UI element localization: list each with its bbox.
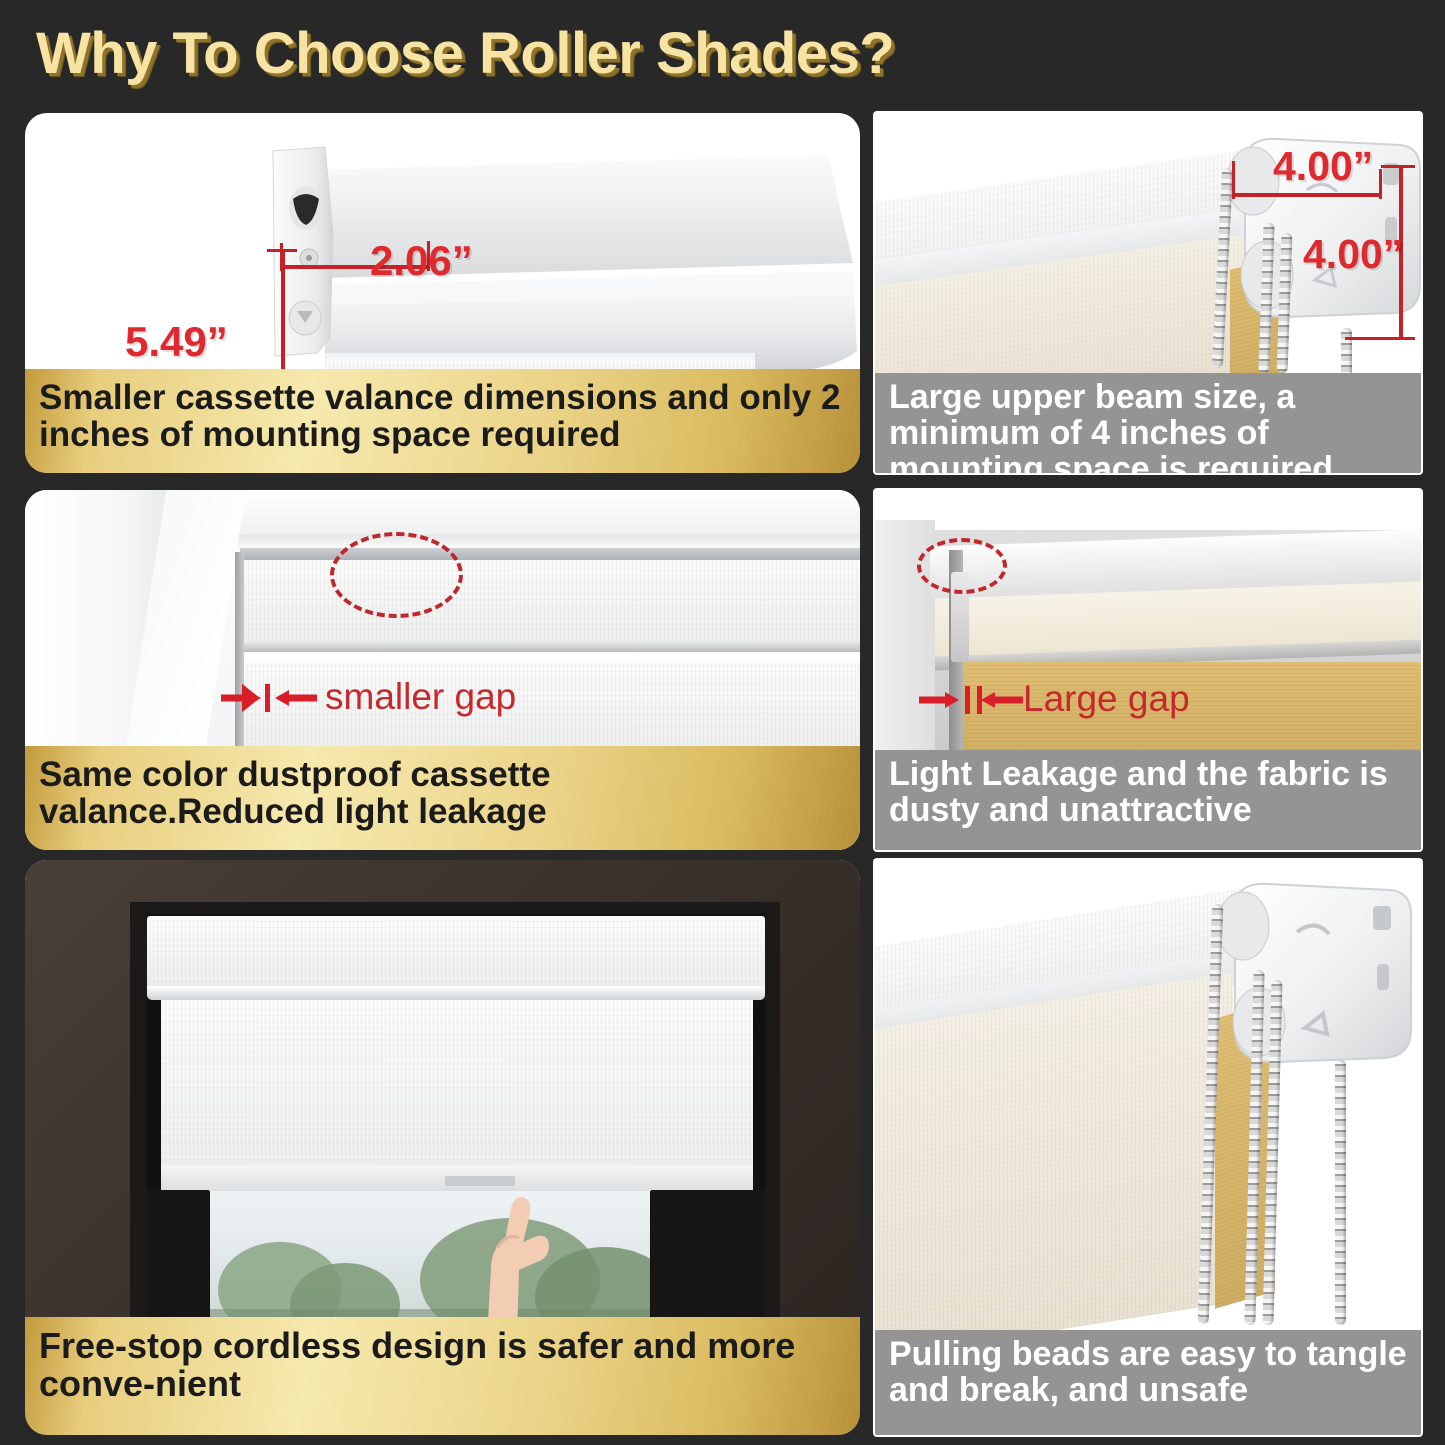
panel-top-right-caption: Large upper beam size, a minimum of 4 in… bbox=[875, 373, 1421, 473]
trees-illustration bbox=[210, 1185, 650, 1325]
panel-middle-right-caption: Light Leakage and the fabric is dusty an… bbox=[875, 750, 1421, 850]
edge-gap-strip bbox=[235, 552, 244, 762]
comparison-grid: 2.06” 5.49” Smaller cassette valance dim… bbox=[0, 0, 1445, 1445]
window-jamb-right bbox=[651, 1190, 765, 1322]
window-jamb-left bbox=[147, 1190, 209, 1322]
gap-callout-label: smaller gap bbox=[325, 676, 516, 718]
bracket-width-line bbox=[1232, 193, 1382, 197]
panel-bottom-left: Free-stop cordless design is safer and m… bbox=[25, 860, 860, 1435]
shade-brand-tab bbox=[445, 1176, 515, 1186]
highlight-circle bbox=[917, 538, 1007, 594]
window-frame-bevel bbox=[175, 534, 860, 548]
panel-bottom-right-caption: Pulling beads are easy to tangle and bre… bbox=[875, 1330, 1421, 1435]
panel-middle-left-caption: Same color dustproof cassette valance.Re… bbox=[25, 746, 860, 850]
bracket-height-tick-bottom bbox=[1345, 337, 1415, 340]
panel-top-left-caption: Smaller cassette valance dimensions and … bbox=[25, 369, 860, 473]
cassette-head-face bbox=[149, 920, 761, 988]
shade-gap-strip bbox=[240, 652, 860, 662]
ceiling-strip bbox=[875, 490, 1421, 530]
panel-top-left: 2.06” 5.49” Smaller cassette valance dim… bbox=[25, 113, 860, 473]
height-dimension-label: 5.49” bbox=[125, 318, 228, 366]
panel-top-right: 4.00” 4.00” Large upper beam size, a min… bbox=[875, 113, 1421, 473]
bead-chain-bracket bbox=[1205, 880, 1421, 1110]
bracket-height-label: 4.00” bbox=[1303, 231, 1403, 278]
gap-arrows bbox=[221, 678, 341, 718]
gap-callout-label: Large gap bbox=[1023, 678, 1190, 720]
width-dimension-label: 2.06” bbox=[370, 237, 473, 285]
panel-middle-right: Large gap Light Leakage and the fabric i… bbox=[875, 490, 1421, 850]
panel-bottom-left-caption: Free-stop cordless design is safer and m… bbox=[25, 1317, 860, 1435]
valance-shadow-line bbox=[240, 642, 860, 652]
bracket-width-tick-right bbox=[1379, 169, 1382, 199]
bracket-height-tick-top bbox=[1381, 165, 1415, 168]
bracket-width-label: 4.00” bbox=[1273, 143, 1373, 190]
window-view bbox=[210, 1185, 650, 1325]
bead-chain-4 bbox=[1335, 1060, 1346, 1325]
hand-illustration bbox=[457, 1178, 567, 1338]
height-dimension-tick-top bbox=[267, 249, 297, 252]
valance-top-rail bbox=[240, 548, 860, 560]
gap-arrows bbox=[919, 680, 1039, 720]
shade-fabric bbox=[875, 972, 1233, 1362]
cassette-head-lip bbox=[147, 986, 765, 1000]
panel-middle-left: smaller gap Same color dustproof cassett… bbox=[25, 490, 860, 850]
panel-bottom-right: Pulling beads are easy to tangle and bre… bbox=[875, 860, 1421, 1435]
highlight-circle bbox=[330, 532, 463, 618]
bracket-width-tick-left bbox=[1232, 161, 1235, 199]
shade-body bbox=[161, 1000, 753, 1190]
